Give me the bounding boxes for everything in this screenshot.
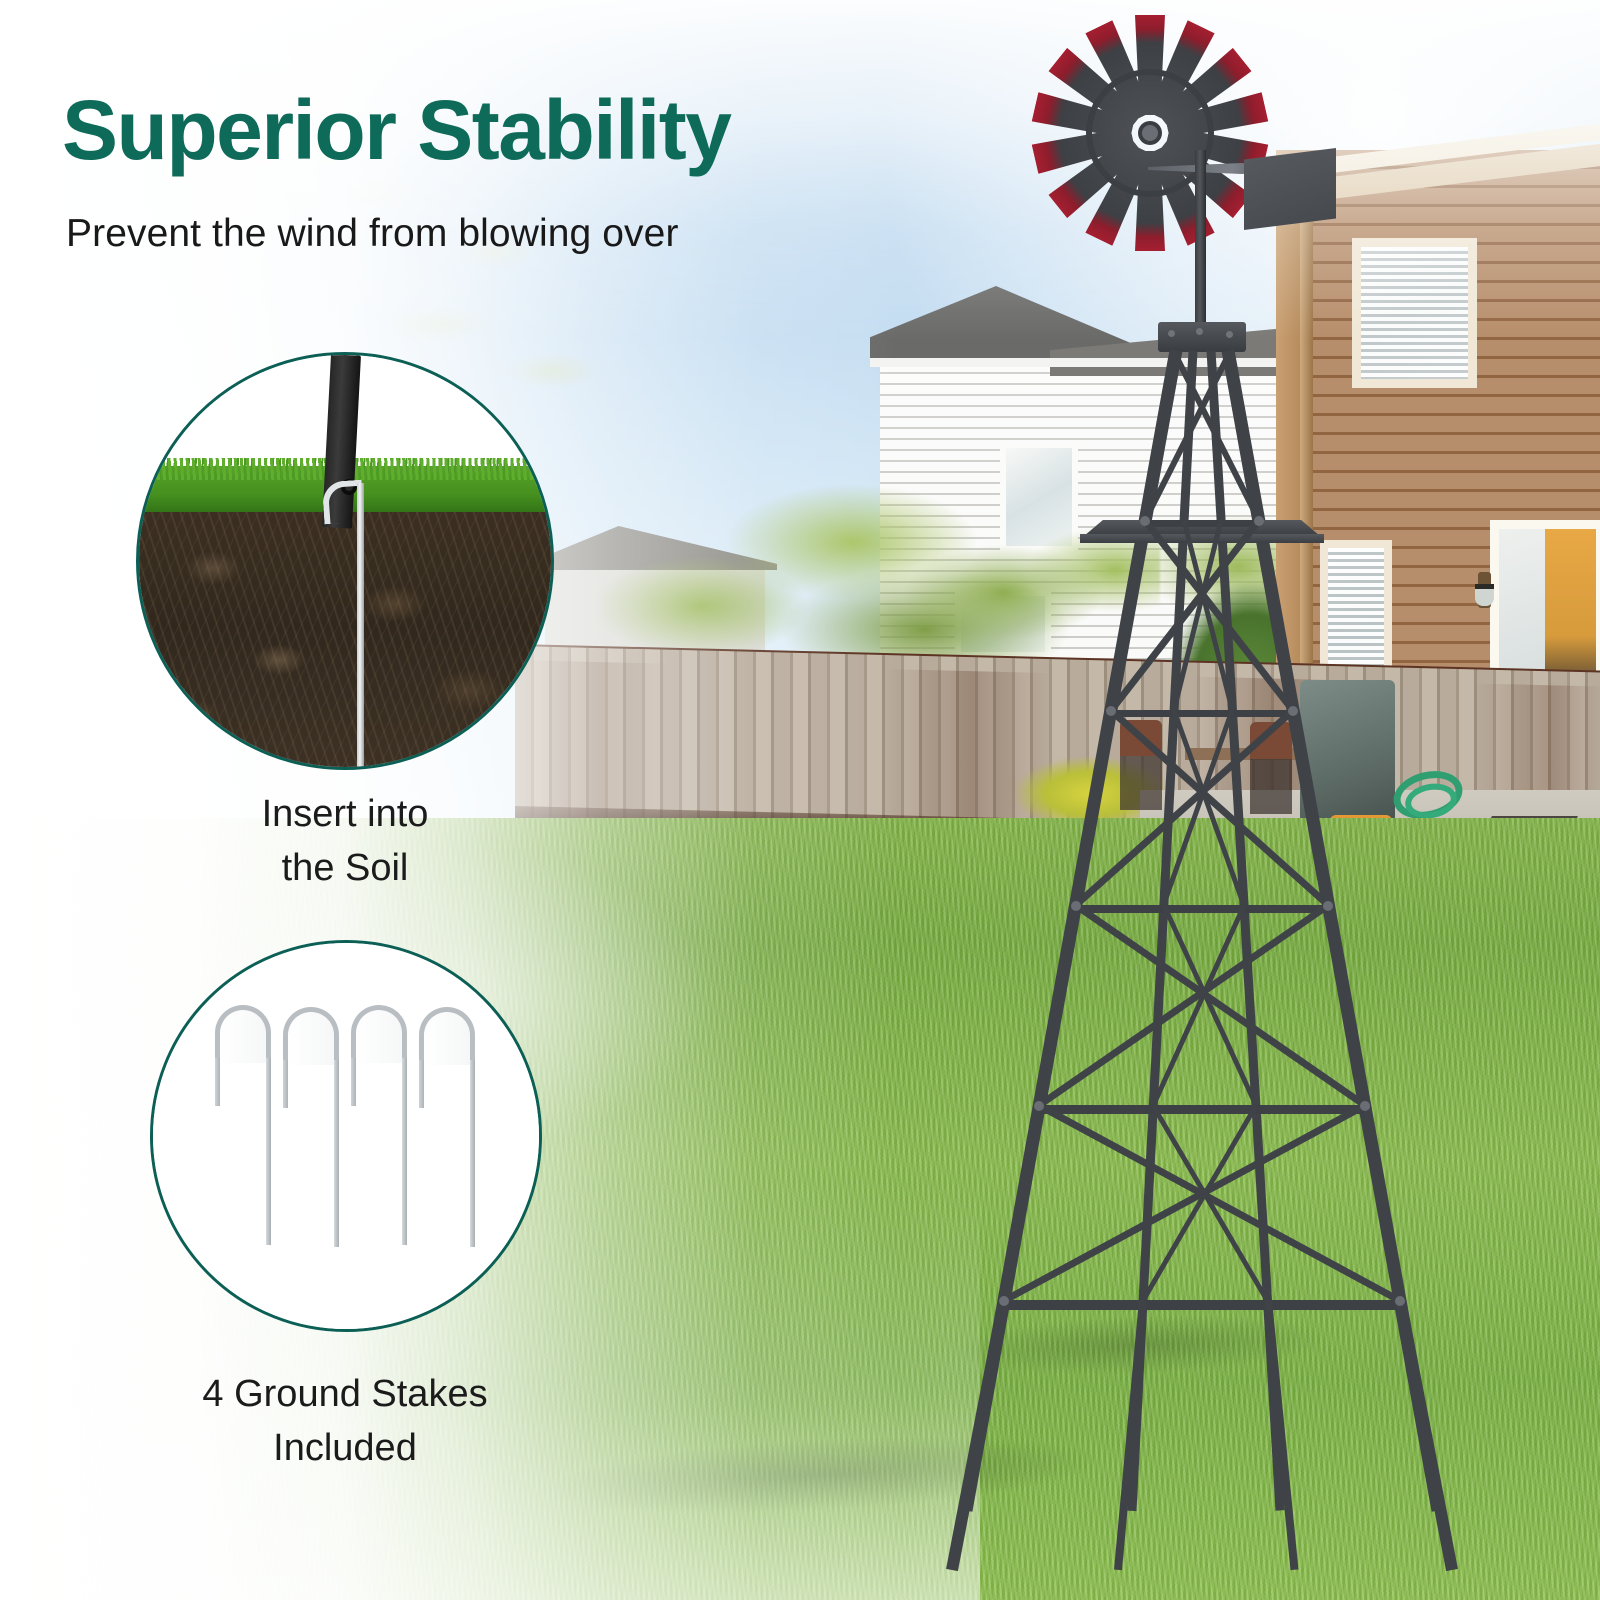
caption-line-2: Included	[80, 1422, 610, 1476]
tower-brace-x1-2	[1074, 902, 1367, 1108]
caption-line-1: Insert into	[95, 788, 595, 842]
stake-short-leg	[351, 1058, 356, 1106]
tower-brace-x2-2	[1037, 902, 1330, 1108]
tower-joint-bolt	[1106, 706, 1116, 716]
stake-long-leg	[334, 1060, 339, 1247]
tower-brace-x1-3	[1038, 1102, 1402, 1303]
ground-stake-icon	[351, 1005, 407, 1245]
tower-joint-bolt	[1360, 1101, 1370, 1111]
caption-line-2: the Soil	[95, 842, 595, 896]
stake-short-leg	[283, 1060, 288, 1108]
stake-long-leg	[402, 1058, 407, 1245]
tower-joint-bolt	[1254, 516, 1264, 526]
stake-hook	[215, 1005, 271, 1063]
stake-hook	[419, 1007, 475, 1065]
blade-hub-center	[1142, 125, 1158, 141]
tower-joint-bolt	[1395, 1296, 1405, 1306]
stake-long-leg	[470, 1060, 475, 1247]
tower-inner-brace-x2-3	[1141, 1104, 1258, 1301]
stake-short-leg	[419, 1060, 424, 1108]
tower-joint-bolt	[1071, 901, 1081, 911]
page-subtitle: Prevent the wind from blowing over	[66, 212, 679, 256]
tower-rail-4	[1039, 1105, 1364, 1114]
stake-short-leg	[215, 1058, 220, 1106]
tower-joint-bolt	[999, 1296, 1009, 1306]
tower-foot-4	[1264, 1300, 1298, 1571]
windmill-blade-wheel	[1030, 8, 1270, 258]
windmill-mast	[1195, 150, 1206, 340]
tower-rail-2	[1111, 710, 1293, 717]
stake-hook	[283, 1007, 339, 1065]
tower-inner-brace-x1-3	[1151, 1104, 1270, 1302]
tower-rail-5	[1004, 1300, 1400, 1310]
caption-line-1: 4 Ground Stakes	[80, 1368, 610, 1422]
tower-foot-1	[946, 1299, 1010, 1571]
tower-brace-x2-3	[1002, 1102, 1366, 1303]
inset-stakes-caption: 4 Ground Stakes Included	[80, 1368, 610, 1476]
page-title: Superior Stability	[62, 88, 730, 172]
tower-foot-3	[1114, 1300, 1147, 1571]
ground-stake-icon	[419, 1007, 475, 1247]
tower-rail-1	[1145, 520, 1259, 527]
ground-stake-icon	[215, 1005, 271, 1245]
inset-insert-into-soil	[136, 352, 554, 770]
stake-long-leg	[266, 1058, 271, 1245]
tower-top-cap	[1158, 322, 1246, 352]
stakes-group	[153, 943, 539, 1329]
tail-vane	[1244, 148, 1336, 230]
inset-soil-layer	[139, 512, 551, 767]
tower-platform-edge	[1080, 534, 1324, 543]
product-feature-banner: Insert into the Soil 4 Ground Stakes Inc…	[0, 0, 1600, 1600]
tower-rail-3	[1076, 905, 1329, 913]
tower-foot-2	[1394, 1299, 1458, 1571]
stake-shaft-icon	[357, 483, 364, 767]
ground-stake-icon	[283, 1007, 339, 1247]
stake-hook	[351, 1005, 407, 1063]
inset-ground-stakes	[150, 940, 542, 1332]
inset-soil-caption: Insert into the Soil	[95, 788, 595, 896]
